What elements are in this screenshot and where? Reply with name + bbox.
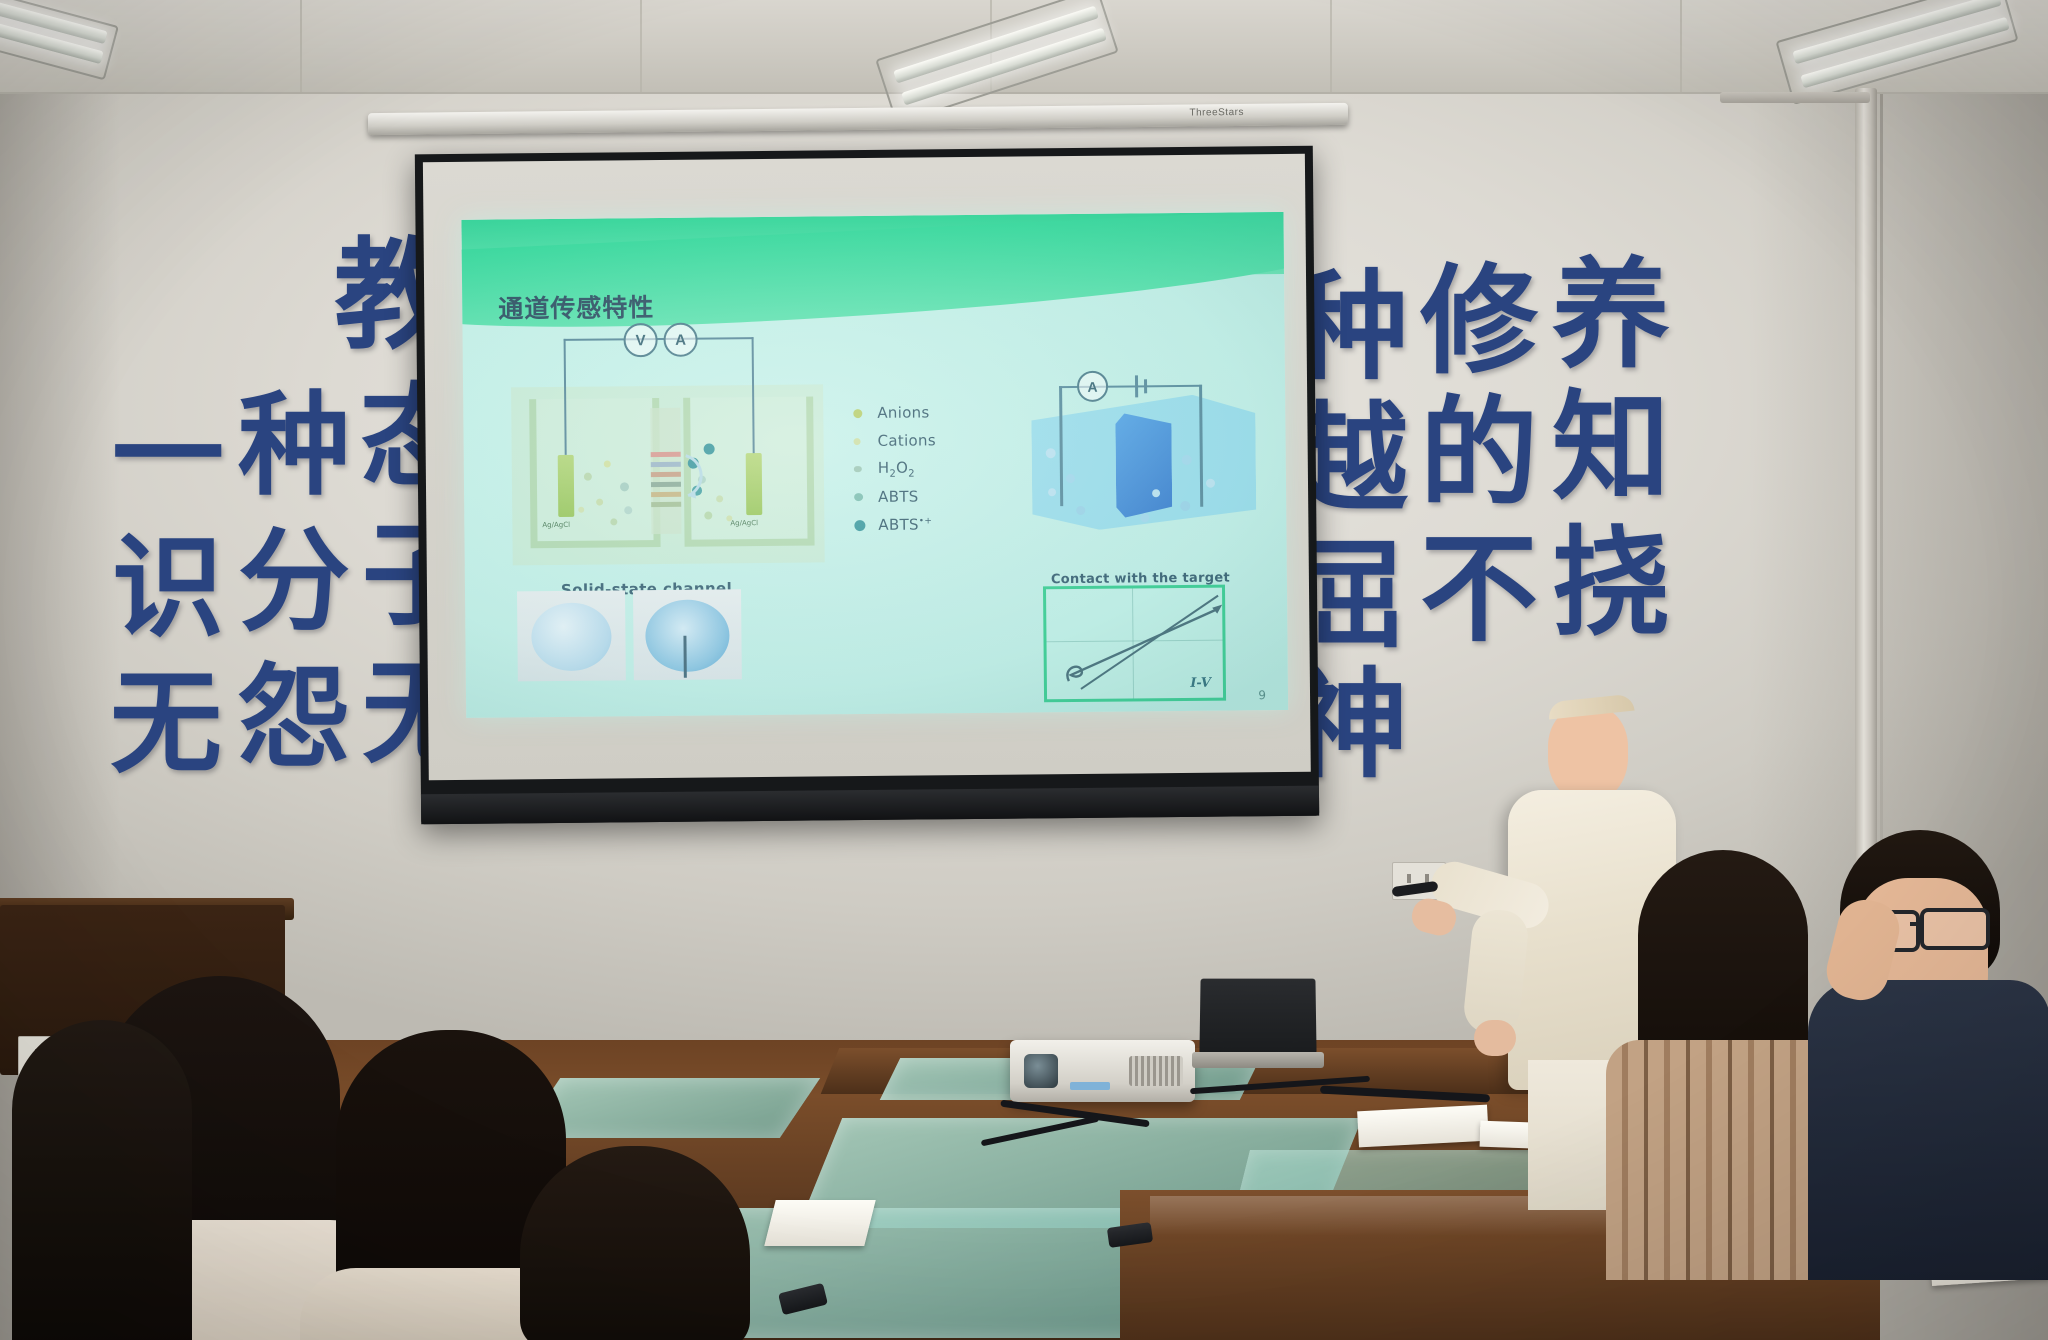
calligraphy-char-r3: 养 xyxy=(1552,256,1670,374)
screen-brand-label: ThreeStars xyxy=(1189,107,1244,119)
ceiling-seam-4 xyxy=(1330,0,1332,92)
ion-dot xyxy=(1140,513,1149,522)
circuit-wire-left xyxy=(564,339,567,455)
legend-label-h2o2: H2O2 xyxy=(878,458,915,479)
ceiling-seam-5 xyxy=(1680,0,1682,92)
notepad-left[interactable] xyxy=(764,1200,875,1246)
circuit-wire-top xyxy=(564,337,754,341)
legend-label-abts-radical: ABTS•+ xyxy=(878,515,932,534)
audience-hair xyxy=(520,1146,750,1340)
calligraphy-char-r5: 的 xyxy=(1420,394,1538,512)
legend-dot-abts-radical xyxy=(854,520,865,531)
probe-needle xyxy=(683,636,686,678)
audience-jacket xyxy=(1808,980,2048,1280)
calligraphy-char-r2: 修 xyxy=(1420,262,1538,380)
membrane-plate xyxy=(1115,413,1172,518)
legend-dot-cations xyxy=(854,438,861,445)
calligraphy-char-r8: 不 xyxy=(1420,530,1538,648)
legend-dot-anions xyxy=(853,409,862,418)
projector-screen: 通道传感特性 xyxy=(415,146,1319,825)
electrode-left xyxy=(558,455,575,517)
slide-legend: Anions Cations H2O2 ABTS ABTS•+ xyxy=(853,398,937,539)
ion-particle xyxy=(704,511,712,519)
classroom-presentation-photo: 教 一 种 态 识 分 子 无 怨 无 种 修 养 越 的 知 屈 不 挠 神 … xyxy=(0,0,2048,1340)
ion-particle xyxy=(726,515,732,521)
calligraphy-char-l2: 一 xyxy=(112,400,224,512)
iv-chart: I-V xyxy=(1043,585,1226,703)
ion-dot xyxy=(1152,489,1160,497)
audience-plaid-scarf xyxy=(1606,1040,1842,1280)
membrane-3d-diagram: A xyxy=(1031,360,1281,558)
ion-dot xyxy=(1046,448,1056,458)
legend-item: ABTS xyxy=(854,482,937,511)
eyeglasses-right-lens xyxy=(1920,908,1990,950)
calligraphy-char-l3: 种 xyxy=(238,390,350,502)
circuit-wire-right xyxy=(752,337,755,453)
legend-label-anions: Anions xyxy=(877,403,929,422)
legend-item: Cations xyxy=(853,426,936,455)
ion-particle xyxy=(610,518,617,525)
calligraphy-char-r6: 知 xyxy=(1552,388,1670,506)
legend-label-cations: Cations xyxy=(877,431,935,450)
ceiling-seam-2 xyxy=(640,0,642,92)
electrode-right xyxy=(746,453,763,515)
electrode-label-left: Ag/AgCl xyxy=(542,521,570,529)
electrode-label-right: Ag/AgCl xyxy=(730,519,758,527)
laptop-screen xyxy=(1199,979,1316,1055)
reaction-arrow-icon xyxy=(680,447,721,503)
ion-dot xyxy=(1206,479,1215,488)
laptop-keyboard[interactable] xyxy=(1192,1052,1324,1068)
iv-chart-label: I-V xyxy=(1190,676,1211,691)
ion-dot xyxy=(1048,488,1056,496)
ion-dot xyxy=(1180,501,1190,511)
battery-plate-2 xyxy=(1144,379,1147,393)
presenter-head xyxy=(1548,706,1628,802)
legend-label-abts: ABTS xyxy=(878,488,919,506)
audience-hair xyxy=(12,1020,192,1340)
presenter-hand-lower xyxy=(1474,1020,1516,1056)
legend-item: Anions xyxy=(853,398,936,427)
ion-dot xyxy=(1066,474,1075,483)
membrane-stack xyxy=(650,408,681,534)
ion-dot xyxy=(1182,455,1192,465)
legend-item: ABTS•+ xyxy=(854,510,937,539)
ion-particle xyxy=(620,482,629,491)
ion-particle xyxy=(584,473,592,481)
slide-number: 9 xyxy=(1258,688,1266,702)
legend-item: H2O2 xyxy=(854,454,937,483)
petri-dish-1 xyxy=(531,602,612,671)
screen-surface: 通道传感特性 xyxy=(423,154,1311,780)
petri-dish-2 xyxy=(645,599,730,672)
calligraphy-char-l9: 怨 xyxy=(238,662,350,774)
projector-vent xyxy=(1129,1056,1183,1086)
wall-pipe-horizontal xyxy=(1720,92,1870,103)
projector-indicator xyxy=(1070,1082,1110,1090)
notebook-stack[interactable] xyxy=(1357,1105,1489,1148)
ammeter-icon: A xyxy=(663,323,697,357)
calligraphy-char-r9: 挠 xyxy=(1552,524,1670,642)
ammeter-icon-right: A xyxy=(1077,371,1108,402)
calligraphy-char-l6: 分 xyxy=(238,526,350,638)
ion-particle xyxy=(604,460,611,467)
legend-dot-h2o2 xyxy=(854,466,862,472)
calligraphy-char-l5: 识 xyxy=(112,532,224,644)
ceiling-seam-1 xyxy=(300,0,302,92)
projector-lens xyxy=(1024,1054,1058,1088)
calligraphy-char-l8: 无 xyxy=(110,668,222,780)
ion-particle xyxy=(624,506,632,514)
wall-pipe-vertical xyxy=(1855,88,1877,968)
ion-dot xyxy=(1076,506,1085,515)
electrode-wire-left xyxy=(1059,386,1063,506)
laptop[interactable] xyxy=(1192,978,1324,1074)
eyeglasses-bridge xyxy=(1910,922,1924,926)
photo-sample-2 xyxy=(633,589,742,680)
slide-title: 通道传感特性 xyxy=(498,288,654,325)
photo-sample-1 xyxy=(517,590,626,681)
projector-device[interactable] xyxy=(1010,1040,1195,1102)
wall-seam xyxy=(1880,92,1883,912)
ion-particle xyxy=(578,507,584,513)
projected-slide: 通道传感特性 xyxy=(461,212,1288,718)
ion-particle xyxy=(596,499,603,506)
voltmeter-icon: V xyxy=(623,323,657,357)
solid-state-channel-diagram: Ag/AgCl Ag/AgCl V A xyxy=(511,384,825,565)
battery-plate-1 xyxy=(1135,375,1138,397)
legend-dot-abts xyxy=(854,493,863,501)
